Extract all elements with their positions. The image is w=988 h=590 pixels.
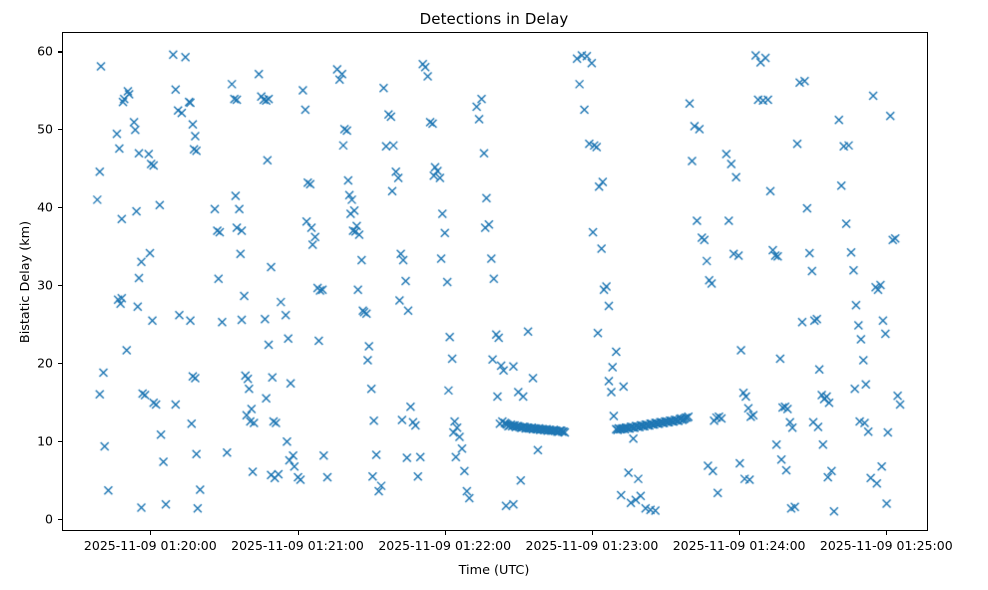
- y-tick-label: 60: [0, 44, 53, 59]
- x-tick-mark: [298, 531, 299, 535]
- x-tick-mark: [739, 531, 740, 535]
- y-tick-label: 0: [0, 511, 53, 526]
- x-tick-mark: [886, 531, 887, 535]
- y-tick-label: 40: [0, 200, 53, 215]
- y-tick-label: 30: [0, 278, 53, 293]
- x-tick-label: 2025-11-09 01:24:00: [673, 538, 806, 553]
- x-axis-label: Time (UTC): [0, 563, 988, 578]
- y-tick-label: 10: [0, 433, 53, 448]
- x-tick-mark: [592, 531, 593, 535]
- x-tick-label: 2025-11-09 01:21:00: [231, 538, 364, 553]
- y-tick-label: 20: [0, 355, 53, 370]
- page-title: Detections in Delay: [0, 10, 988, 28]
- matplotlib-figure: Detections in Delay Bistatic Delay (km) …: [0, 0, 988, 590]
- x-tick-mark: [445, 531, 446, 535]
- scatter-series-detections: [63, 33, 927, 530]
- x-tick-mark: [150, 531, 151, 535]
- x-tick-label: 2025-11-09 01:22:00: [378, 538, 511, 553]
- plot-area: [62, 32, 928, 531]
- y-tick-label: 50: [0, 122, 53, 137]
- x-tick-label: 2025-11-09 01:23:00: [526, 538, 659, 553]
- x-tick-label: 2025-11-09 01:25:00: [820, 538, 953, 553]
- x-tick-label: 2025-11-09 01:20:00: [84, 538, 217, 553]
